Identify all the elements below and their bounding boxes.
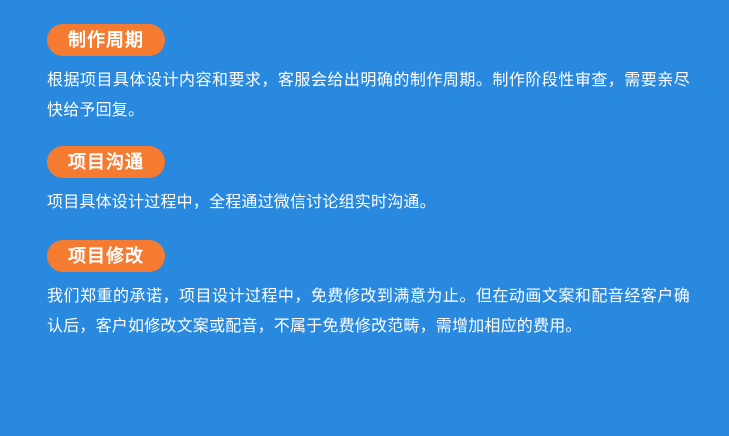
badge-row: 项目修改 [47,240,690,272]
info-panel: 制作周期 根据项目具体设计内容和要求，客服会给出明确的制作周期。制作阶段性审查，… [0,0,729,436]
section-project-communication: 项目沟通 项目具体设计过程中，全程通过微信讨论组实时沟通。 [47,146,690,218]
section-badge-project-communication: 项目沟通 [47,146,165,178]
badge-row: 项目沟通 [47,146,690,178]
section-project-revision: 项目修改 我们郑重的承诺，项目设计过程中，免费修改到满意为止。但在动画文案和配音… [47,240,690,342]
section-text-production-cycle: 根据项目具体设计内容和要求，客服会给出明确的制作周期。制作阶段性审查，需要亲尽快… [47,66,690,126]
section-badge-project-revision: 项目修改 [47,240,165,272]
section-text-project-communication: 项目具体设计过程中，全程通过微信讨论组实时沟通。 [47,188,690,218]
section-badge-production-cycle: 制作周期 [47,24,165,56]
badge-row: 制作周期 [47,24,690,56]
section-text-project-revision: 我们郑重的承诺，项目设计过程中，免费修改到满意为止。但在动画文案和配音经客户确认… [47,282,690,342]
section-list: 制作周期 根据项目具体设计内容和要求，客服会给出明确的制作周期。制作阶段性审查，… [0,0,729,342]
section-production-cycle: 制作周期 根据项目具体设计内容和要求，客服会给出明确的制作周期。制作阶段性审查，… [47,24,690,126]
